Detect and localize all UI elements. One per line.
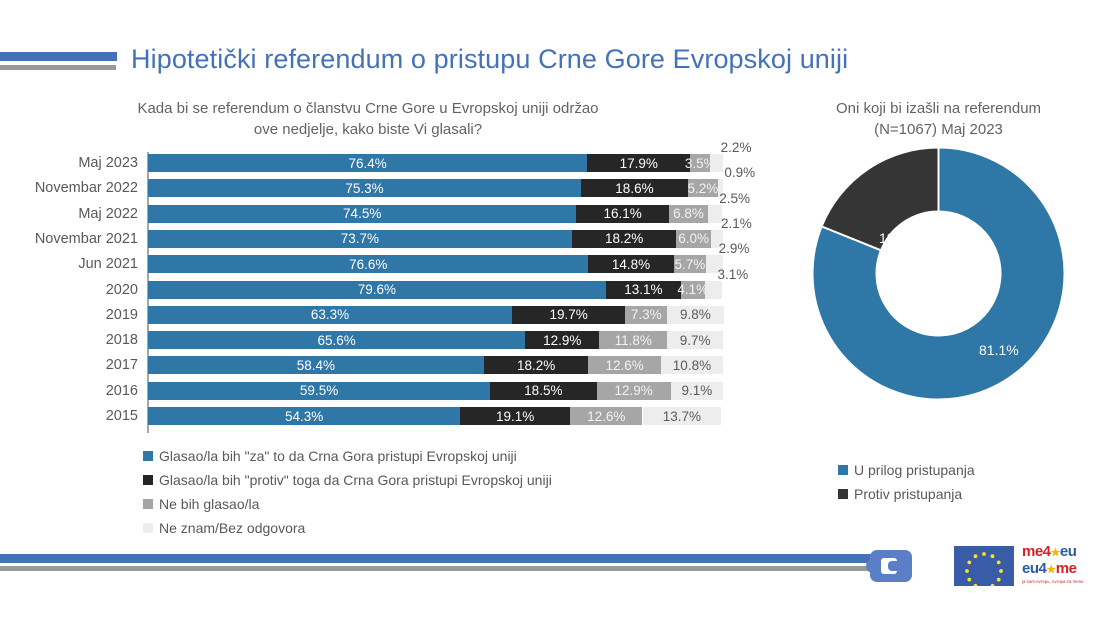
bar-segment-value: 4.1% (677, 282, 708, 297)
legend-label: Protiv pristupanja (854, 486, 962, 502)
star-icon: ★ (1051, 547, 1060, 559)
bar-segment-value: 5.7% (675, 257, 706, 272)
bar-segment: 18.2% (572, 230, 677, 248)
bar-segment-value: 79.6% (358, 282, 396, 297)
me4eu-logo-line1-b: eu (1060, 543, 1077, 560)
left-chart: Kada bi se referendum o članstvu Crne Go… (0, 98, 760, 548)
bar-segment: 13.1% (606, 281, 681, 299)
bar-segment: 14.8% (588, 255, 673, 273)
bar-row: 58.4%18.2%12.6%10.8% (148, 356, 723, 374)
bar-segment-value: 18.5% (524, 383, 562, 398)
bar-segment-value: 13.7% (663, 409, 701, 424)
bar-segment-value: 6.8% (673, 206, 704, 221)
bar-row: 65.6%12.9%11.8%9.7% (148, 331, 723, 349)
bar-segment-value: 9.8% (680, 307, 711, 322)
donut-slice-label-0: 81.1% (979, 342, 1019, 358)
bar-segment: 16.1% (576, 205, 669, 223)
bar-segment-value: 7.3% (631, 307, 662, 322)
page-title: Hipotetički referendum o pristupu Crne G… (131, 44, 991, 75)
bar-segment: 74.5% (148, 205, 576, 223)
bar-segment-value: 58.4% (297, 358, 335, 373)
bar-segment-value-outside: 2.2% (721, 140, 752, 155)
bar-segment: 3.5% (690, 154, 710, 172)
bar-segment: 6.0% (676, 230, 711, 248)
left-chart-title-line1: Kada bi se referendum o članstvu Crne Go… (18, 98, 718, 119)
bar-segment-value: 74.5% (343, 206, 381, 221)
bar-segment: 10.8% (661, 356, 723, 374)
bar-segment: 79.6% (148, 281, 606, 299)
bar-segment-value: 12.6% (587, 409, 625, 424)
me4eu-logo-line2: eu4★me (1022, 561, 1117, 578)
legend-label: Glasao/la bih "protiv" toga da Crna Gora… (159, 472, 552, 488)
category-label: 2020 (0, 282, 138, 298)
legend-swatch (143, 499, 153, 509)
bar-segment: 18.6% (581, 179, 688, 197)
legend-swatch (143, 475, 153, 485)
right-chart-legend: U prilog pristupanjaProtiv pristupanja (838, 462, 975, 510)
bar-segment: 12.9% (525, 331, 599, 349)
bar-segment-value: 12.9% (543, 333, 581, 348)
bar-segment-value: 13.1% (624, 282, 662, 297)
header-accent-bars (0, 52, 117, 72)
bar-segment: 17.9% (587, 154, 690, 172)
donut-chart: 81.1% 18.9% (811, 146, 1066, 401)
category-label: Maj 2023 (0, 155, 138, 171)
bar-row: 74.5%16.1%6.8%2.5% (148, 205, 723, 223)
me4eu-logo-tagline: ja sam evropu, evropa za mene (1022, 579, 1117, 585)
bar-segment: 5.2% (688, 179, 718, 197)
category-label: 2015 (0, 408, 138, 424)
bar-row: 75.3%18.6%5.2%0.9% (148, 179, 723, 197)
bar-segment-value-outside: 3.1% (718, 267, 749, 282)
legend-item[interactable]: Protiv pristupanja (838, 486, 975, 502)
bar-segment-value: 76.4% (349, 156, 387, 171)
bar-segment: 76.6% (148, 255, 588, 273)
category-label: Maj 2022 (0, 206, 138, 222)
bar-segment: 75.3% (148, 179, 581, 197)
bar-segment-value: 14.8% (612, 257, 650, 272)
right-chart-title-line2: (N=1067) Maj 2023 (760, 119, 1117, 140)
me4eu-logo-line2-a: eu4 (1022, 560, 1046, 577)
bar-segment: 13.7% (643, 407, 722, 425)
bar-segment: 9.8% (667, 306, 723, 324)
footer-accent-bar-blue (0, 554, 903, 563)
bar-segment-value: 6.0% (678, 231, 709, 246)
bar-row: 54.3%19.1%12.6%13.7% (148, 407, 723, 425)
legend-swatch (143, 451, 153, 461)
left-chart-title-line2: ove nedjelje, kako biste Vi glasali? (18, 119, 718, 140)
bar-segment-value-outside: 2.9% (719, 241, 750, 256)
legend-swatch (838, 465, 848, 475)
bar-segment-value: 65.6% (317, 333, 355, 348)
bar-segment: 18.2% (484, 356, 589, 374)
legend-item[interactable]: U prilog pristupanja (838, 462, 975, 478)
legend-swatch (838, 489, 848, 499)
bar-segment-value: 5.2% (687, 181, 718, 196)
bar-segment-value: 54.3% (285, 409, 323, 424)
bar-row: 63.3%19.7%7.3%9.8% (148, 306, 723, 324)
bar-segment: 58.4% (148, 356, 484, 374)
bar-segment: 9.7% (667, 331, 723, 349)
category-label: 2016 (0, 383, 138, 399)
bar-segment: 12.6% (588, 356, 660, 374)
bar-segment: 12.6% (570, 407, 642, 425)
bar-segment-value: 9.7% (680, 333, 711, 348)
bar-segment-value: 75.3% (345, 181, 383, 196)
bar-segment: 11.8% (599, 331, 667, 349)
header-accent-bar-grey (0, 65, 116, 70)
bar-segment-value: 12.6% (606, 358, 644, 373)
legend-swatch (143, 523, 153, 533)
footer-logos: me4★eu eu4★me ja sam evropu, evropa za m… (866, 544, 1117, 592)
bar-segment: 3.1% (705, 281, 723, 299)
me4eu-logo-line1-a: me4 (1022, 543, 1051, 560)
bar-segment-value: 19.7% (549, 307, 587, 322)
right-chart-title: Oni koji bi izašli na referendum (N=1067… (760, 98, 1117, 140)
bar-segment: 19.1% (460, 407, 570, 425)
bar-segment-value: 63.3% (311, 307, 349, 322)
bar-segment-value: 16.1% (604, 206, 642, 221)
legend-item[interactable]: Ne znam/Bez odgovora (143, 520, 743, 536)
eu-flag-icon (954, 546, 1014, 586)
right-chart: Oni koji bi izašli na referendum (N=1067… (760, 98, 1117, 548)
category-label: Novembar 2022 (0, 180, 138, 196)
bar-segment: 9.1% (671, 382, 723, 400)
legend-item[interactable]: Ne bih glasao/la (143, 496, 743, 512)
legend-label: Glasao/la bih "za" to da Crna Gora prist… (159, 448, 517, 464)
bar-segment-value: 18.2% (517, 358, 555, 373)
bar-row: 76.6%14.8%5.7%2.9% (148, 255, 723, 273)
bar-segment: 73.7% (148, 230, 572, 248)
bar-segment: 65.6% (148, 331, 525, 349)
left-chart-title: Kada bi se referendum o članstvu Crne Go… (18, 98, 718, 140)
donut-slice-label-1: 18.9% (879, 230, 919, 246)
bar-segment: 18.5% (490, 382, 596, 400)
bar-segment: 2.2% (710, 154, 723, 172)
bar-segment-value-outside: 0.9% (724, 165, 755, 180)
header-accent-bar-blue (0, 52, 117, 61)
bar-segment: 12.9% (597, 382, 671, 400)
bar-segment-value: 18.6% (615, 181, 653, 196)
bar-segment: 54.3% (148, 407, 460, 425)
bar-segment-value: 12.9% (614, 383, 652, 398)
wallet-icon (866, 546, 916, 586)
bar-row: 59.5%18.5%12.9%9.1% (148, 382, 723, 400)
bar-segment: 7.3% (625, 306, 667, 324)
category-label: 2019 (0, 307, 138, 323)
bar-segment-value: 11.8% (615, 333, 652, 348)
category-label: 2017 (0, 357, 138, 373)
me4eu-logo: me4★eu eu4★me ja sam evropu, evropa za m… (1022, 544, 1117, 585)
stacked-bar-plot: Maj 2023Novembar 2022Maj 2022Novembar 20… (0, 146, 760, 434)
legend-item[interactable]: Glasao/la bih "za" to da Crna Gora prist… (143, 448, 743, 464)
bar-segment-value: 18.2% (605, 231, 643, 246)
bar-segment: 63.3% (148, 306, 512, 324)
bar-row: 76.4%17.9%3.5%2.2% (148, 154, 723, 172)
bar-segment-value: 10.8% (673, 358, 711, 373)
legend-label: Ne znam/Bez odgovora (159, 520, 305, 536)
bar-segment-value: 9.1% (681, 383, 712, 398)
footer-accent-bar-grey (0, 566, 903, 571)
bar-segment-value: 19.1% (496, 409, 534, 424)
bar-segment: 5.7% (674, 255, 707, 273)
me4eu-logo-line2-b: me (1056, 560, 1077, 577)
donut-svg (811, 146, 1066, 401)
left-chart-legend: Glasao/la bih "za" to da Crna Gora prist… (143, 448, 743, 544)
bar-row: 73.7%18.2%6.0%2.1% (148, 230, 723, 248)
me4eu-logo-line1: me4★eu (1022, 544, 1117, 561)
bar-segment: 19.7% (512, 306, 625, 324)
category-label: Jun 2021 (0, 256, 138, 272)
bar-segment: 59.5% (148, 382, 490, 400)
bar-segment: 6.8% (669, 205, 708, 223)
bar-row: 79.6%13.1%4.1%3.1% (148, 281, 723, 299)
bar-segment-value-outside: 2.5% (719, 191, 750, 206)
legend-item[interactable]: Glasao/la bih "protiv" toga da Crna Gora… (143, 472, 743, 488)
legend-label: Ne bih glasao/la (159, 496, 259, 512)
legend-label: U prilog pristupanja (854, 462, 975, 478)
category-label: 2018 (0, 332, 138, 348)
right-chart-title-line1: Oni koji bi izašli na referendum (760, 98, 1117, 119)
bar-segment-value: 76.6% (349, 257, 387, 272)
bar-segment: 76.4% (148, 154, 587, 172)
star-icon-2: ★ (1046, 564, 1055, 576)
bar-segment: 4.1% (681, 281, 705, 299)
category-label: Novembar 2021 (0, 231, 138, 247)
bar-segment-value-outside: 2.1% (721, 216, 752, 231)
bar-segment-value: 59.5% (300, 383, 338, 398)
bar-segment-value: 17.9% (620, 156, 658, 171)
bar-segment-value: 73.7% (341, 231, 379, 246)
